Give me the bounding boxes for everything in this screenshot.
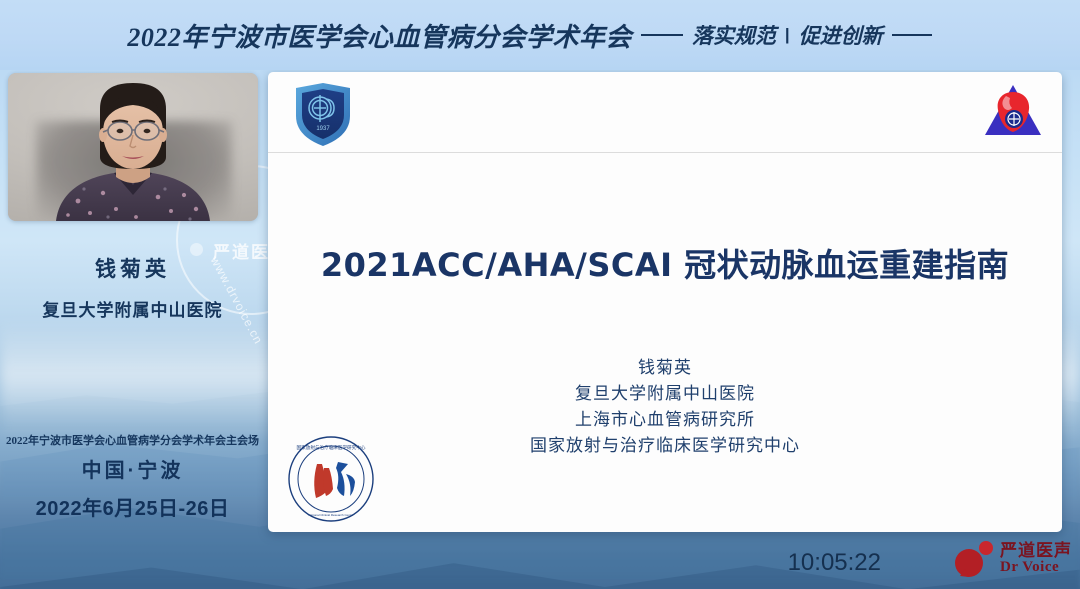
header-rule-right — [892, 34, 932, 36]
cardiology-heart-logo-icon — [982, 82, 1044, 142]
header-rule-left — [641, 34, 683, 36]
drvoice-brand-logo: 严道医声 Dr Voice — [952, 539, 1072, 579]
event-title: 2022年宁波市医学会心血管病分会学术年会 — [127, 17, 632, 54]
slide-title: 2021ACC/AHA/SCAI 冠状动脉血运重建指南 — [268, 240, 1062, 286]
speaker-webcam-image — [8, 73, 258, 221]
broadcast-screen: 严道医学 www.drvoice.cn 2022年宁波市医学会心血管病分会学术年… — [0, 0, 1080, 589]
slogan-left: 落实规范 — [692, 20, 776, 50]
event-header-banner: 2022年宁波市医学会心血管病分会学术年会 落实规范 | 促进创新 — [0, 0, 1080, 70]
slogan-divider: | — [785, 25, 790, 45]
conference-venue-line: 2022年宁波市医学会心血管病学分会学术年会主会场 — [0, 432, 265, 448]
conference-location: 中国·宁波 — [0, 454, 265, 483]
svg-text:National Clinical Research Cen: National Clinical Research Center — [308, 513, 353, 517]
slide-body-line: 上海市心血管病研究所 — [268, 407, 1062, 433]
shield-year-label: 1937 — [316, 126, 330, 132]
drvoice-mark-icon — [952, 539, 996, 579]
conference-info-block: 2022年宁波市医学会心血管病学分会学术年会主会场 中国·宁波 2022年6月2… — [0, 432, 265, 521]
slide-body-line: 钱菊英 — [268, 355, 1062, 381]
stream-timestamp: 10:05:22 — [788, 549, 881, 577]
speaker-name: 钱菊英 — [0, 253, 265, 283]
speaker-video-tile[interactable] — [8, 73, 258, 221]
slide-body-line: 国家放射与治疗临床医学研究中心 — [268, 433, 1062, 459]
conference-dates: 2022年6月25日-26日 — [0, 492, 265, 521]
zhongshan-hospital-shield-icon: 1937 — [290, 80, 356, 148]
speaker-organization: 复旦大学附属中山医院 — [0, 296, 265, 321]
slogan-right: 促进创新 — [799, 20, 883, 50]
brand-name-en: Dr Voice — [1000, 560, 1072, 576]
slide-body-text: 钱菊英 复旦大学附属中山医院 上海市心血管病研究所 国家放射与治疗临床医学研究中… — [268, 355, 1062, 459]
presentation-slide[interactable]: 1937 国家放射与治疗临床医学研究中心 — [268, 72, 1062, 532]
brand-name-cn: 严道医声 — [1000, 542, 1072, 560]
slide-header-divider — [268, 152, 1062, 153]
slide-body-line: 复旦大学附属中山医院 — [268, 381, 1062, 407]
